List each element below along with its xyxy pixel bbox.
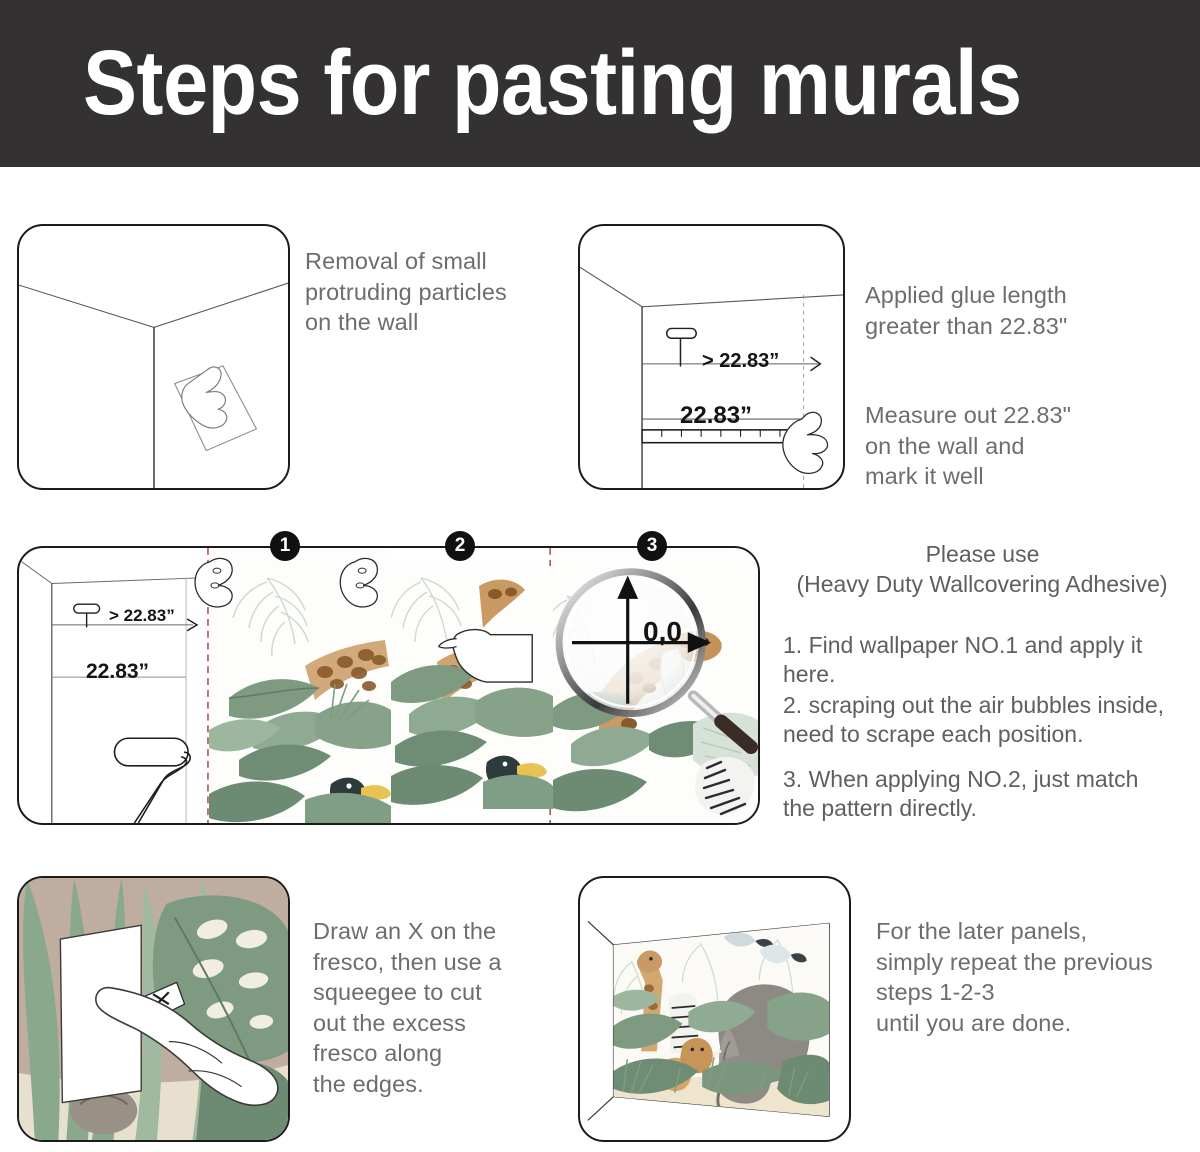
adhesive-heading-line2: (Heavy Duty Wallcovering Adhesive) bbox=[762, 570, 1200, 599]
panel-removal bbox=[17, 224, 290, 490]
panel-glue-measure: > 22.83” 22.83” bbox=[578, 224, 845, 490]
hand-with-cloth-icon bbox=[19, 226, 288, 488]
instruction-sheet: Steps for pasting murals Removal of smal… bbox=[0, 0, 1200, 1152]
caption-measure: Measure out 22.83" on the wall and mark … bbox=[865, 400, 1185, 492]
glue-length-label: > 22.83” bbox=[702, 350, 779, 373]
page-title: Steps for pasting murals bbox=[83, 28, 1016, 138]
instruction-item-1: 1. Find wallpaper NO.1 and apply it here… bbox=[783, 631, 1193, 689]
step-badge-1: 1 bbox=[270, 531, 300, 561]
panel-trim-excess bbox=[17, 876, 290, 1142]
measure-length-label: 22.83” bbox=[680, 402, 752, 430]
magnifier-icon bbox=[19, 548, 758, 823]
instruction-item-3: 3. When applying NO.2, just match the pa… bbox=[783, 765, 1163, 823]
caption-trim: Draw an X on the fresco, then use a sque… bbox=[313, 916, 563, 1099]
hand-with-squeegee-icon bbox=[19, 878, 288, 1140]
header-bar: Steps for pasting murals bbox=[0, 0, 1200, 167]
origin-label: 0,0 bbox=[643, 616, 682, 648]
instruction-item-2: 2. scraping out the air bubbles inside, … bbox=[783, 691, 1183, 749]
panel-repeat bbox=[578, 876, 851, 1142]
adhesive-heading-line1: Please use bbox=[775, 540, 1190, 569]
caption-repeat: For the later panels, simply repeat the … bbox=[876, 916, 1200, 1038]
step-badge-2: 2 bbox=[445, 531, 475, 561]
step-badge-3: 3 bbox=[637, 531, 667, 561]
caption-removal: Removal of small protruding particles on… bbox=[305, 246, 560, 338]
caption-glue: Applied glue length greater than 22.83" bbox=[865, 280, 1185, 341]
panel-apply-wallpaper: > 22.83” 22.83” bbox=[17, 546, 760, 825]
finished-mural-room-icon bbox=[580, 878, 849, 1140]
